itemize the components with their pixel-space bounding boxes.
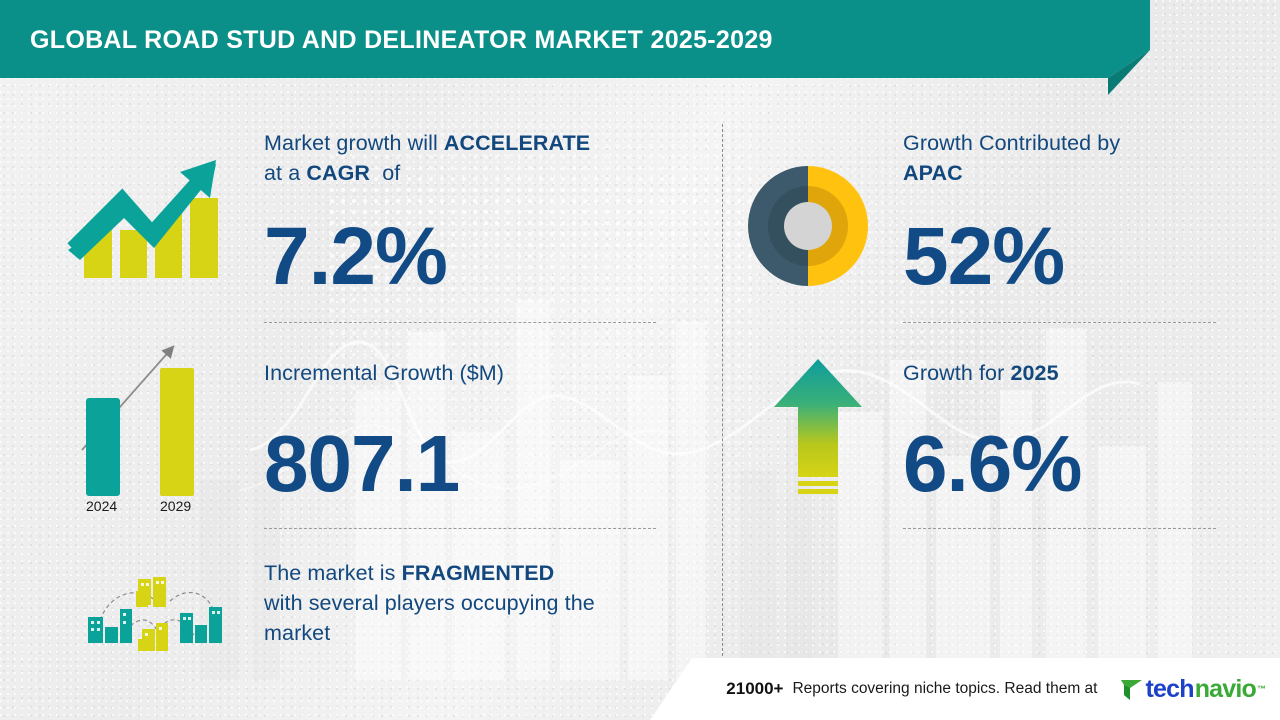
city-clusters-icon — [76, 565, 234, 653]
technavio-logo[interactable]: technavio™ — [1120, 675, 1266, 704]
logo-text-navio: navio — [1195, 675, 1256, 704]
apac-lead-text: Growth Contributed byAPAC — [903, 128, 1233, 188]
left-divider-2 — [264, 528, 656, 529]
donut-chart-icon — [746, 164, 870, 288]
growth-2025-value: 6.6% — [903, 424, 1081, 504]
growth-chart-icon — [66, 150, 228, 290]
column-divider — [722, 124, 723, 656]
fragmented-lead-text: The market is FRAGMENTEDwith several pla… — [264, 558, 674, 648]
technavio-arrow-mark — [1120, 676, 1144, 702]
right-divider-2 — [903, 528, 1216, 529]
infographic-canvas: GLOBAL ROAD STUD AND DELINEATOR MARKET 2… — [0, 0, 1280, 720]
left-divider-1 — [264, 322, 656, 323]
cagr-lead-text: Market growth will ACCELERATEat a CAGR o… — [264, 128, 664, 188]
cagr-value: 7.2% — [264, 216, 447, 298]
footer-band: 21000+ Reports covering niche topics. Re… — [0, 658, 1280, 720]
growth-2025-lead-text: Growth for 2025 — [903, 358, 1233, 388]
bar-comparison-icon — [74, 330, 214, 520]
apac-value: 52% — [903, 216, 1064, 298]
right-divider-1 — [903, 322, 1216, 323]
incremental-growth-value: 807.1 — [264, 424, 459, 504]
bar-2029 — [160, 368, 194, 496]
logo-trademark: ™ — [1257, 684, 1266, 694]
up-arrow-icon — [770, 355, 866, 505]
reports-count: 21000+ — [726, 679, 783, 699]
footer-tagline: Reports covering niche topics. Read them… — [792, 680, 1097, 698]
bar-2024 — [86, 398, 120, 496]
page-title: GLOBAL ROAD STUD AND DELINEATOR MARKET 2… — [30, 26, 773, 55]
logo-text-tech: tech — [1145, 675, 1193, 704]
incremental-growth-label: Incremental Growth ($M) — [264, 358, 664, 388]
